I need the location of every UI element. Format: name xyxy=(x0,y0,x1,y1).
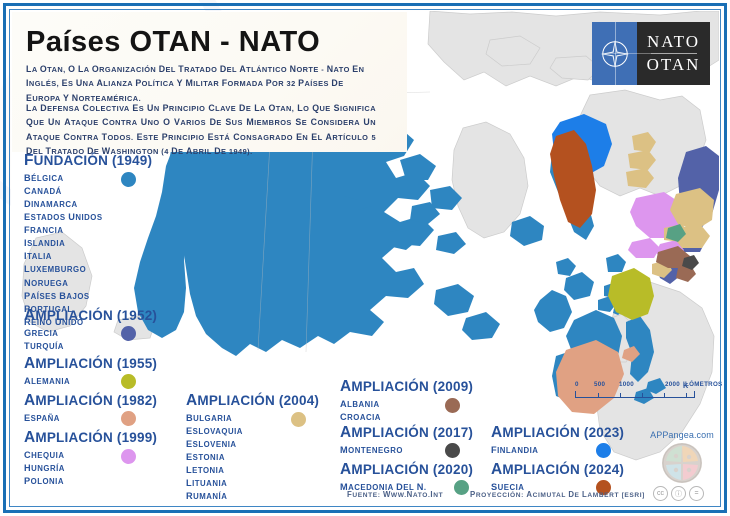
list-item: LUXEMBURGO xyxy=(24,263,152,276)
legend-group-fundacion-1949[interactable]: FUNDACIÓN (1949) BÉLGICA CANADÁ DINAMARC… xyxy=(24,152,152,329)
list-item: PAÍSES BAJOS xyxy=(24,290,152,303)
scale-bar: 0 500 1000 2000 KILÓMETROS xyxy=(575,381,705,398)
projection-credit: PROYECCIÓN: ACIMUTAL DE LAMBERT [ESRI] xyxy=(470,490,645,499)
legend-group-ampliacion-1982[interactable]: AMPLIACIÓN (1982) ESPAÑA xyxy=(24,392,157,425)
page-title-text: Países OTAN - NATO xyxy=(26,26,320,58)
list-item: ESTONIA xyxy=(186,451,319,464)
list-item: TURQUÍA xyxy=(24,340,157,353)
legend-heading: AMPLIACIÓN (2024) xyxy=(491,461,624,479)
page-title: Países OTAN - NATO xyxy=(26,26,320,59)
legend-heading: AMPLIACIÓN (2017) xyxy=(340,424,473,442)
list-item: HUNGRÍA xyxy=(24,462,157,475)
list-item: ESLOVAQUIA xyxy=(186,425,319,438)
scale-unit-label: KILÓMETROS xyxy=(683,381,722,388)
legend-swatch-1999 xyxy=(121,449,136,464)
legend-heading: AMPLIACIÓN (1999) xyxy=(24,429,157,447)
scale-bar-track xyxy=(575,391,695,398)
list-item: GRECIA xyxy=(24,327,157,340)
legend-group-ampliacion-1955[interactable]: AMPLIACIÓN (1955) ALEMANIA xyxy=(24,355,157,388)
scale-tick-label-0: 0 xyxy=(575,381,579,388)
list-item: POLONIA xyxy=(24,475,157,488)
nato-logo: NATO OTAN xyxy=(592,22,710,85)
appangea-brand[interactable]: APPangea.com xyxy=(641,430,723,483)
legend-swatch-1949 xyxy=(121,172,136,187)
nato-logo-divider xyxy=(651,53,697,54)
list-item: LETONIA xyxy=(186,464,319,477)
list-item: CANADÁ xyxy=(24,185,152,198)
legend-heading: AMPLIACIÓN (2023) xyxy=(491,424,624,442)
intro-paragraph-1: LA OTAN, O LA ORGANIZACIÓN DEL TRATADO D… xyxy=(26,62,376,105)
legend-group-ampliacion-2017[interactable]: AMPLIACIÓN (2017) MONTENEGRO xyxy=(340,424,473,457)
scale-tick xyxy=(664,393,665,397)
legend-country-list: BÉLGICA CANADÁ DINAMARCA ESTADOS UNIDOS … xyxy=(24,172,152,329)
creative-commons-badges: cc ⓘ = xyxy=(653,486,704,501)
list-item: ESPAÑA xyxy=(24,412,157,425)
list-item: FRANCIA xyxy=(24,224,152,237)
legend-group-ampliacion-2009[interactable]: AMPLIACIÓN (2009) ALBANIA CROACIA xyxy=(340,378,473,424)
cc-by-icon: ⓘ xyxy=(671,486,686,501)
cc-equal-icon: = xyxy=(689,486,704,501)
legend-heading: AMPLIACIÓN (1982) xyxy=(24,392,157,410)
poster-root: Países OTAN - NATO LA OTAN, O LA ORGANIZ… xyxy=(0,0,730,516)
legend-group-ampliacion-1999[interactable]: AMPLIACIÓN (1999) CHEQUIA HUNGRÍA POLONI… xyxy=(24,429,157,488)
scale-tick-label-2000: 2000 xyxy=(665,381,680,388)
legend-swatch-1982 xyxy=(121,411,136,426)
legend-heading: AMPLIACIÓN (2009) xyxy=(340,378,473,396)
footer: FUENTE: WWW.NATO.INT PROYECCIÓN: ACIMUTA… xyxy=(0,488,730,502)
scale-tick xyxy=(598,393,599,397)
scale-bar-labels: 0 500 1000 2000 KILÓMETROS xyxy=(575,381,705,390)
legend-swatch-2004 xyxy=(291,412,306,427)
legend-group-ampliacion-1952[interactable]: AMPLIACIÓN (1952) GRECIA TURQUÍA xyxy=(24,307,157,353)
scale-tick xyxy=(686,393,687,397)
legend-heading: AMPLIACIÓN (2004) xyxy=(186,392,319,410)
list-item: ISLANDIA xyxy=(24,237,152,250)
legend-country-list: ALEMANIA xyxy=(24,375,157,388)
list-item: ITALIA xyxy=(24,250,152,263)
legend-swatch-2023 xyxy=(596,443,611,458)
appangea-label: APPangea.com xyxy=(641,430,723,440)
legend-swatch-1955 xyxy=(121,374,136,389)
legend-heading: FUNDACIÓN (1949) xyxy=(24,152,152,170)
legend-heading: AMPLIACIÓN (1955) xyxy=(24,355,157,373)
list-item: NORUEGA xyxy=(24,277,152,290)
legend-country-list: ESPAÑA xyxy=(24,412,157,425)
puzzle-pieces-icon xyxy=(662,443,702,483)
scale-tick-label-1000: 1000 xyxy=(619,381,634,388)
legend-swatch-1952 xyxy=(121,326,136,341)
legend-country-list: CHEQUIA HUNGRÍA POLONIA xyxy=(24,449,157,488)
nato-wordmark: NATO OTAN xyxy=(637,22,710,85)
legend-country-list: GRECIA TURQUÍA xyxy=(24,327,157,353)
list-item: DINAMARCA xyxy=(24,198,152,211)
cc-icon: cc xyxy=(653,486,668,501)
scale-tick xyxy=(642,393,643,397)
list-item: CROACIA xyxy=(340,411,473,424)
source-credit: FUENTE: WWW.NATO.INT xyxy=(347,490,443,499)
nato-logo-line1: NATO xyxy=(647,33,700,51)
nato-logo-line2: OTAN xyxy=(647,56,701,74)
scale-tick xyxy=(620,393,621,397)
list-item: ALEMANIA xyxy=(24,375,157,388)
list-item: CHEQUIA xyxy=(24,449,157,462)
puzzle-globe-icon xyxy=(662,443,702,483)
legend-group-ampliacion-2023[interactable]: AMPLIACIÓN (2023) FINLANDIA xyxy=(491,424,624,457)
legend-swatch-2017 xyxy=(445,443,460,458)
legend-group-ampliacion-2004[interactable]: AMPLIACIÓN (2004) BULGARIA ESLOVAQUIA ES… xyxy=(186,392,319,503)
list-item: ESTADOS UNIDOS xyxy=(24,211,152,224)
intro-paragraph-2: LA DEFENSA COLECTIVA ES UN PRINCIPIO CLA… xyxy=(26,101,376,158)
legend-swatch-2009 xyxy=(445,398,460,413)
list-item: ESLOVENIA xyxy=(186,438,319,451)
legend-heading: AMPLIACIÓN (2020) xyxy=(340,461,473,479)
scale-tick-label-500: 500 xyxy=(594,381,605,388)
legend-heading: AMPLIACIÓN (1952) xyxy=(24,307,157,325)
